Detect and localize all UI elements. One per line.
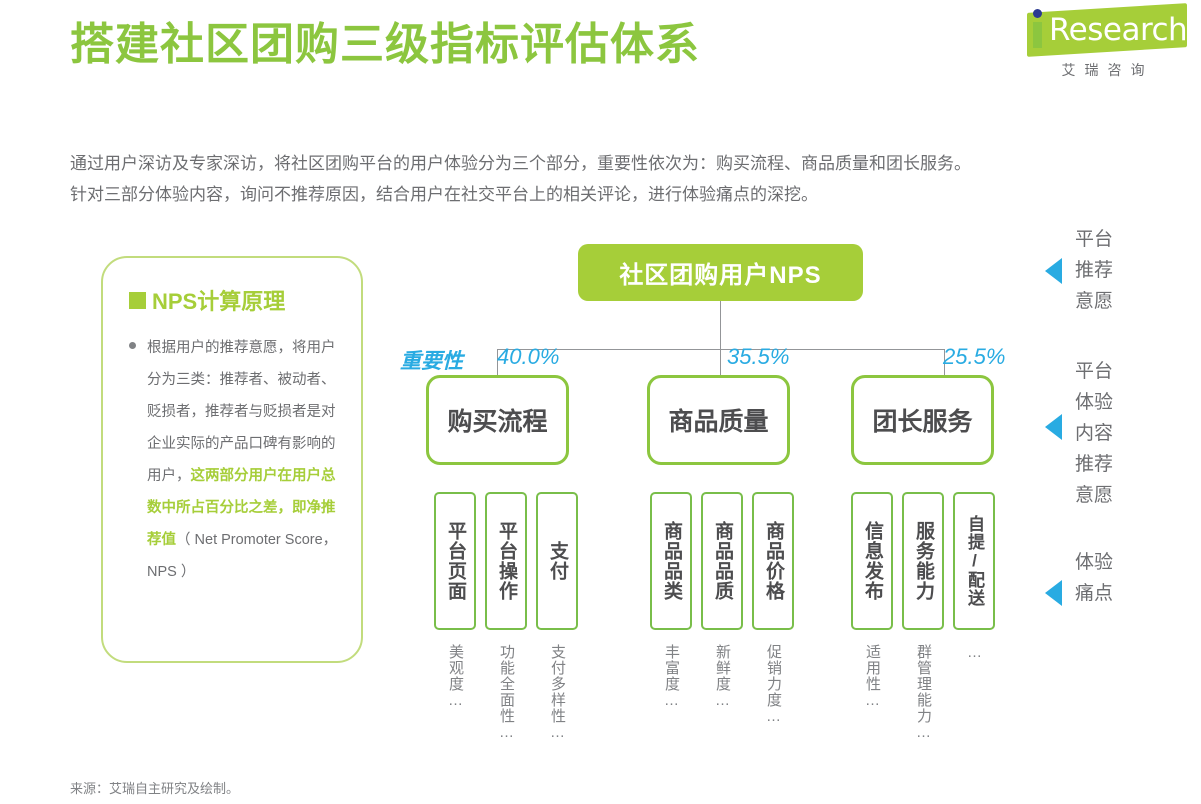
arrow-left-icon-2 bbox=[1045, 414, 1062, 440]
logo-i-dot-icon bbox=[1033, 9, 1042, 18]
sub-box-2-3: 商品价格 bbox=[752, 492, 794, 630]
nps-text-part-2: （ Net Promoter Score，NPS ） bbox=[147, 532, 337, 580]
source-note: 来源：艾瑞自主研究及绘制。 bbox=[70, 778, 239, 797]
category-box-product-quality: 商品质量 bbox=[647, 375, 790, 465]
logo-mark: Research bbox=[1013, 6, 1193, 54]
logo-i-stem-icon bbox=[1033, 22, 1042, 48]
sub-box-1-3: 支付 bbox=[536, 492, 578, 630]
intro-line-1: 通过用户深访及专家深访，将社区团购平台的用户体验分为三个部分，重要性依次为：购买… bbox=[70, 148, 1150, 179]
arrow-left-icon-3 bbox=[1045, 580, 1062, 606]
sub-box-3-2: 服务能力 bbox=[902, 492, 944, 630]
nps-card-header: NPS计算原理 bbox=[129, 284, 285, 316]
nps-card-body: 根据用户的推荐意愿，将用户分为三类：推荐者、被动者、贬损者，推荐者与贬损者是对企… bbox=[129, 332, 341, 588]
leaf-note-1-3: 支付多样性… bbox=[536, 644, 578, 742]
category-box-purchase-flow: 购买流程 bbox=[426, 375, 569, 465]
importance-value-2: 35.5% bbox=[727, 344, 789, 370]
intro-paragraph: 通过用户深访及专家深访，将社区团购平台的用户体验分为三个部分，重要性依次为：购买… bbox=[70, 148, 1150, 210]
sub-box-1-2: 平台操作 bbox=[485, 492, 527, 630]
importance-label: 重要性 bbox=[400, 345, 463, 375]
leaf-note-2-2: 新鲜度… bbox=[701, 644, 743, 710]
sub-box-3-3: 自提/配送 bbox=[953, 492, 995, 630]
logo-wordmark: Research bbox=[1049, 12, 1187, 48]
category-box-leader-service: 团长服务 bbox=[851, 375, 994, 465]
nps-text-part-1: 根据用户的推荐意愿，将用户分为三类：推荐者、被动者、贬损者，推荐者与贬损者是对企… bbox=[147, 340, 336, 484]
leaf-note-2-3: 促销力度… bbox=[752, 644, 794, 726]
leaf-note-1-1: 美观度… bbox=[434, 644, 476, 710]
arrow-left-icon-1 bbox=[1045, 258, 1062, 284]
leaf-note-2-1: 丰富度… bbox=[650, 644, 692, 710]
connector-root-vertical bbox=[720, 301, 721, 349]
intro-line-2: 针对三部分体验内容，询问不推荐原因，结合用户在社交平台上的相关评论，进行体验痛点… bbox=[70, 179, 1150, 210]
page-title: 搭建社区团购三级指标评估体系 bbox=[70, 8, 700, 72]
axis-label-2: 平台体验内容推荐意愿 bbox=[1072, 356, 1116, 511]
sub-box-2-2: 商品品质 bbox=[701, 492, 743, 630]
nps-card-title: NPS计算原理 bbox=[152, 284, 285, 316]
sub-box-3-1: 信息发布 bbox=[851, 492, 893, 630]
square-bullet-icon bbox=[129, 292, 146, 309]
axis-label-3: 体验痛点 bbox=[1072, 547, 1116, 609]
leaf-note-3-3: … bbox=[953, 644, 995, 662]
logo-chinese-name: 艾瑞咨询 bbox=[1013, 60, 1193, 80]
leaf-note-3-1: 适用性… bbox=[851, 644, 893, 710]
leaf-note-1-2: 功能全面性… bbox=[485, 644, 527, 742]
nps-principle-card: NPS计算原理 根据用户的推荐意愿，将用户分为三类：推荐者、被动者、贬损者，推荐… bbox=[101, 256, 363, 663]
iresearch-logo: Research 艾瑞咨询 bbox=[1013, 6, 1193, 80]
axis-label-1: 平台推荐意愿 bbox=[1072, 224, 1116, 317]
sub-box-1-1: 平台页面 bbox=[434, 492, 476, 630]
root-node-nps: 社区团购用户NPS bbox=[578, 244, 863, 301]
importance-value-3: 25.5% bbox=[943, 344, 1005, 370]
importance-value-1: 40.0% bbox=[497, 344, 559, 370]
connector-drop-2 bbox=[720, 349, 721, 375]
leaf-note-3-2: 群管理能力… bbox=[902, 644, 944, 742]
sub-box-2-1: 商品品类 bbox=[650, 492, 692, 630]
